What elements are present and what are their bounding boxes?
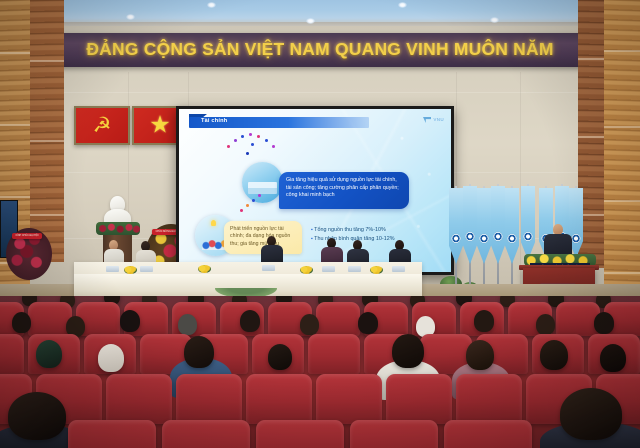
ceiling-spotlight [126, 14, 135, 20]
connector-dot [258, 194, 261, 197]
connector-dot [246, 204, 249, 207]
decorative-dot-arc [225, 133, 287, 163]
wreath-sign-left-text: KÍNH CHÚC ĐẠI HỘI [12, 233, 42, 237]
audience-head [560, 388, 622, 440]
audience-head [12, 312, 31, 333]
laptop [106, 266, 119, 272]
gold-star-icon: ★ [149, 113, 171, 137]
audience-head [540, 340, 568, 370]
slide-bullet-item: Tổng nguồn thu tăng 7%-10% [311, 226, 431, 235]
slide-callout-secondary-text: Phát triển nguồn lực tài chính; đa dạng … [224, 221, 302, 248]
wall-seam [60, 92, 580, 93]
lightbulb-icon [211, 220, 216, 226]
audience-head [120, 310, 140, 332]
audience-head [466, 340, 494, 370]
ceiling-spotlight [398, 2, 407, 8]
table-flower [124, 266, 137, 274]
audience-head [36, 340, 62, 368]
audience-head [8, 392, 66, 440]
laptop [322, 266, 335, 272]
presentation-screen: Tài chính VNU [176, 106, 454, 275]
ceiling-spotlight [490, 17, 499, 23]
laptop [262, 265, 275, 271]
table-flower [300, 266, 313, 274]
audience-head [178, 314, 197, 335]
hall-banner: ĐẢNG CỘNG SẢN VIỆT NAM QUANG VINH MUÔN N… [46, 33, 594, 67]
wood-panel-left-inner [30, 0, 64, 262]
connector-dot [252, 199, 255, 202]
audience-head [98, 344, 124, 372]
ceiling-spotlight [306, 18, 315, 24]
table-flower [198, 265, 211, 273]
laptop [140, 266, 153, 272]
seated-audience [0, 296, 640, 448]
slide-title: Tài chính [201, 118, 227, 124]
audience-head [600, 344, 626, 372]
audience-head [594, 312, 614, 334]
bust-flower-arrangement [96, 222, 140, 235]
audience-head [358, 312, 378, 334]
laptop [348, 266, 361, 272]
wreath-sign-left: KÍNH CHÚC ĐẠI HỘI [12, 233, 42, 239]
slide-callout-primary-text: Gia tăng hiệu quả sử dụng nguồn lực tài … [279, 172, 409, 200]
slide-surface: Tài chính VNU [179, 109, 451, 272]
ceiling-spotlight [207, 2, 216, 8]
communist-party-flag: ☭ [74, 106, 130, 145]
finance-photo-circle [242, 162, 283, 203]
hall-banner-text: ĐẢNG CỘNG SẢN VIỆT NAM QUANG VINH MUÔN N… [46, 39, 594, 60]
conference-hall-photo: ĐẢNG CỘNG SẢN VIỆT NAM QUANG VINH MUÔN N… [0, 0, 640, 448]
wood-panel-right-outer [604, 0, 640, 310]
audience-head [300, 314, 319, 335]
laptop [392, 266, 405, 272]
audience-head [474, 310, 494, 332]
hammer-sickle-icon: ☭ [89, 114, 115, 138]
audience-head [536, 314, 555, 335]
audience-head [392, 334, 424, 368]
table-flower [370, 266, 383, 274]
audience-head [268, 344, 292, 370]
slide-logo-text: VNU [433, 117, 444, 122]
connector-dot [240, 209, 243, 212]
slide-callout-primary: Gia tăng hiệu quả sử dụng nguồn lực tài … [279, 172, 409, 209]
wall-seam [520, 72, 521, 288]
audience-head [184, 336, 214, 368]
audience-head [240, 310, 260, 332]
